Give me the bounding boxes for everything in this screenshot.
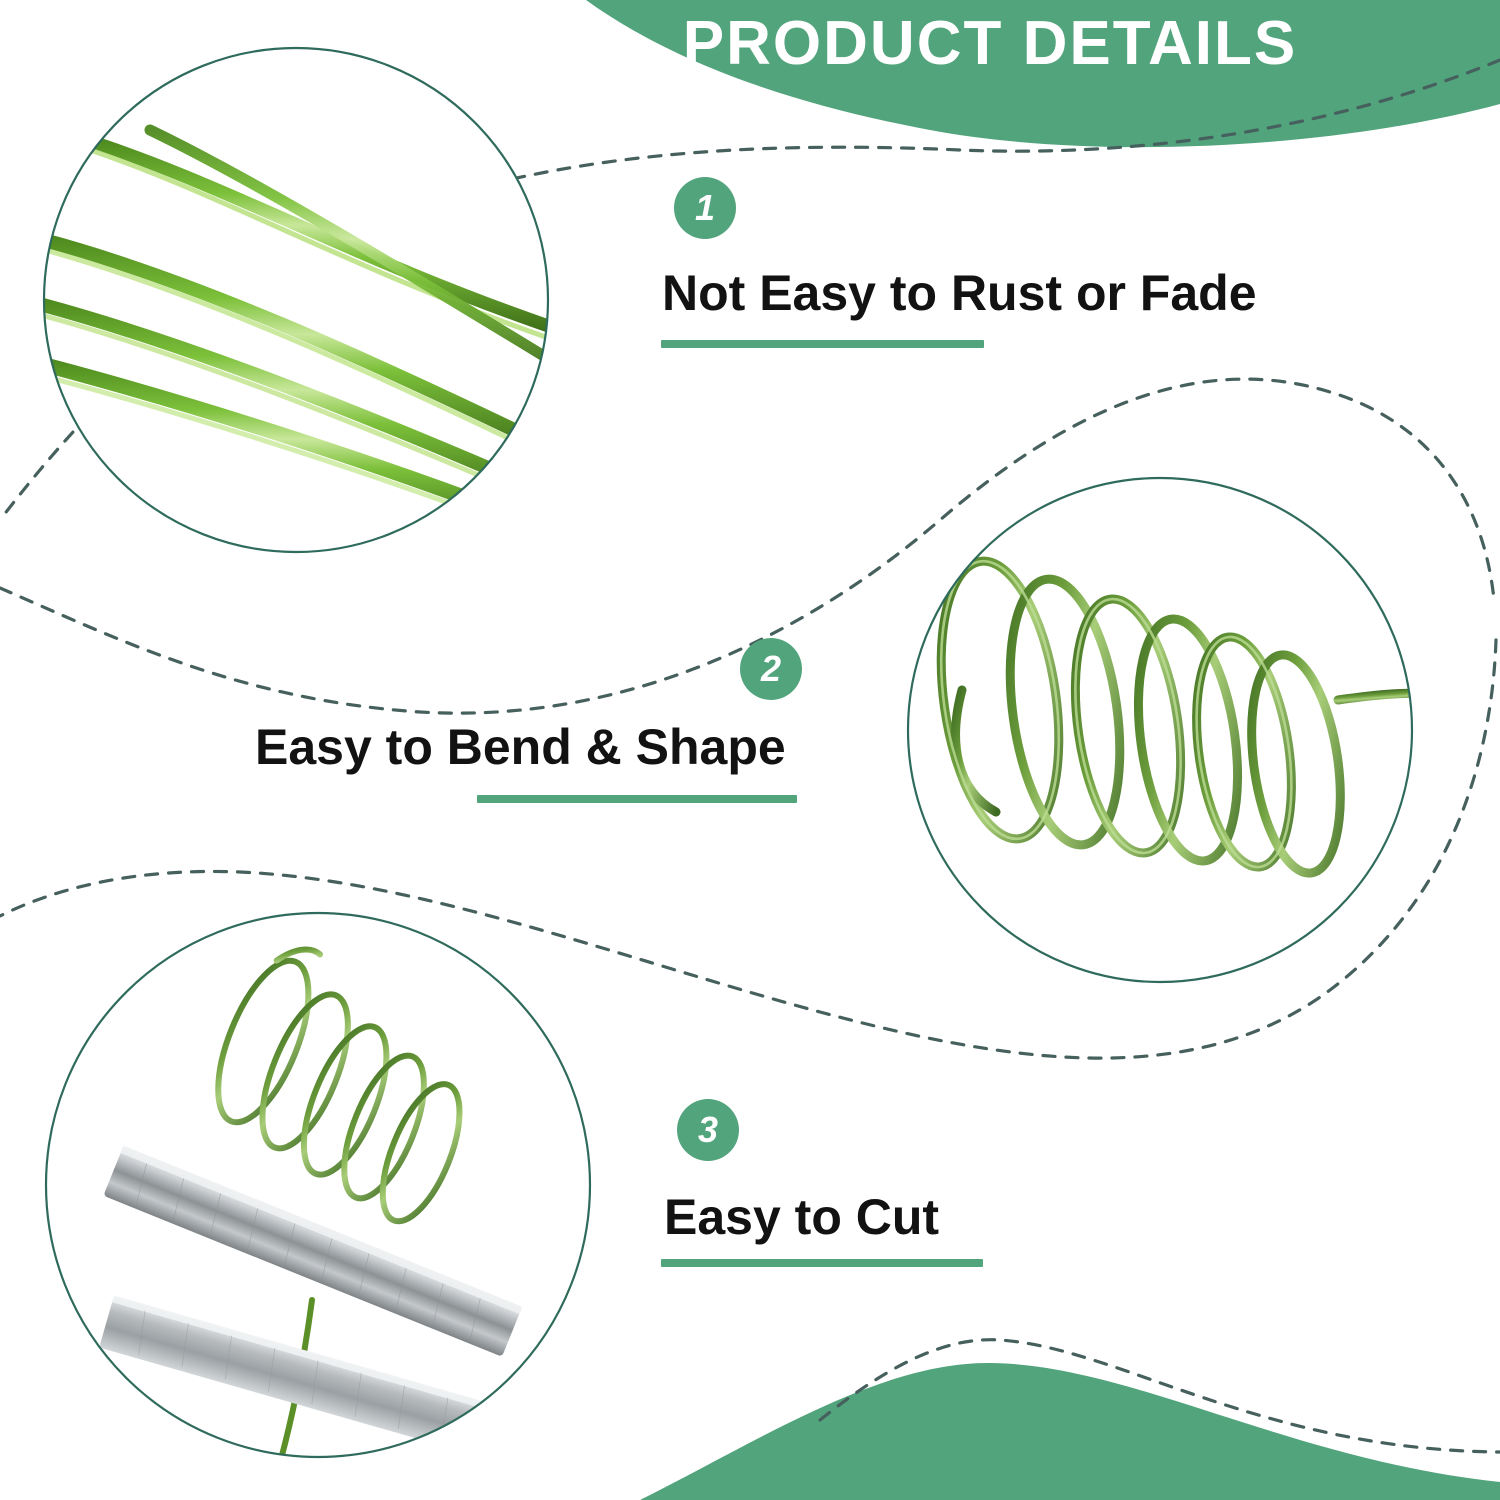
feature-3-title: Easy to Cut — [664, 1192, 939, 1242]
feature-2-title: Easy to Bend & Shape — [255, 722, 786, 772]
green-wire-strands-photo — [22, 48, 570, 552]
feature-2-underline — [477, 795, 797, 803]
green-bottom-right-wave — [640, 1363, 1500, 1500]
feature-1-number-badge: 1 — [674, 177, 736, 239]
feature-2-number-badge: 2 — [740, 638, 802, 700]
page-title: PRODUCT DETAILS — [640, 8, 1340, 79]
scissors-cutting-wire-photo — [46, 913, 590, 1470]
green-wire-coil-photo — [908, 478, 1430, 982]
feature-1-underline — [661, 340, 984, 348]
feature-3-underline — [661, 1259, 983, 1267]
feature-3-number-badge: 3 — [677, 1099, 739, 1161]
feature-1-title: Not Easy to Rust or Fade — [662, 268, 1257, 318]
product-details-infographic: PRODUCT DETAILS 1 Not Easy to Rust or Fa… — [0, 0, 1500, 1500]
